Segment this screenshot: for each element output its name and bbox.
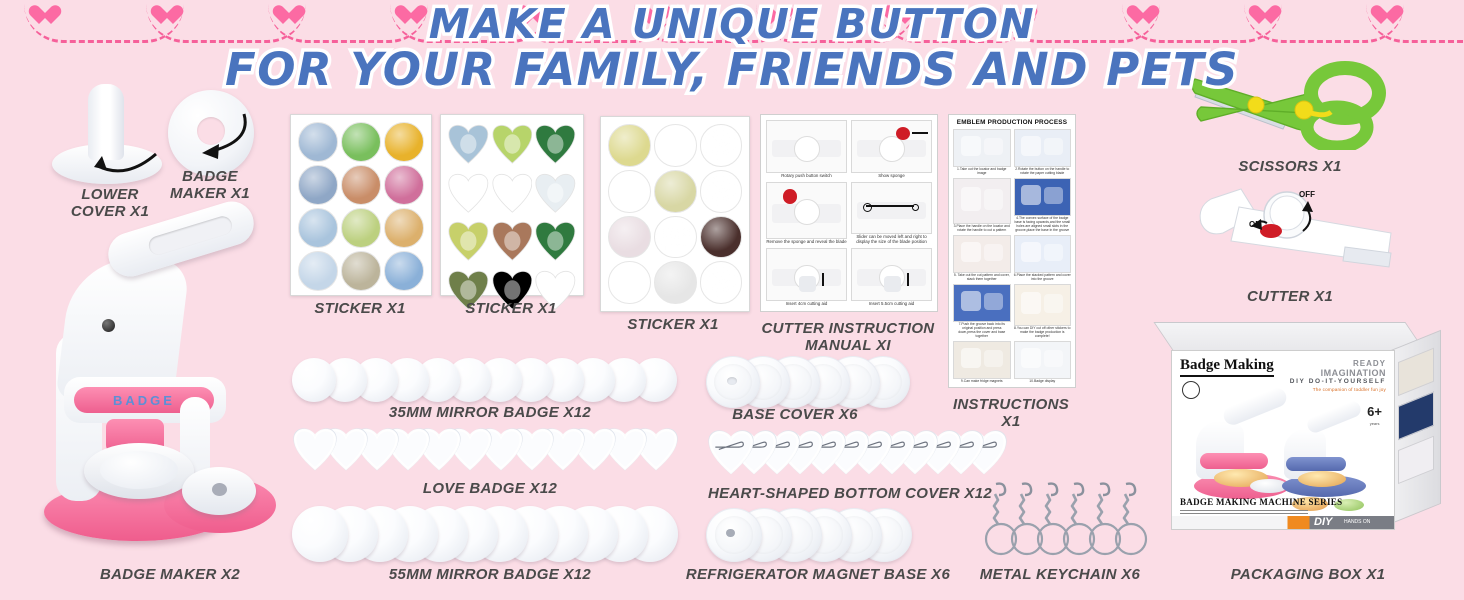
metal-keychain-item xyxy=(1114,482,1148,558)
instruction-step-art xyxy=(1014,284,1072,326)
sticker-item xyxy=(535,171,576,217)
step-thumb-a xyxy=(961,136,981,155)
base-cover-row xyxy=(706,356,896,408)
badge-maker-machine-image: BADGE xyxy=(40,215,290,555)
sticker-item xyxy=(608,124,651,167)
sticker-sheet-animals xyxy=(440,114,584,296)
sticker-item xyxy=(492,219,533,265)
box-brand: Badge Making xyxy=(1180,357,1274,377)
step-thumb-a xyxy=(1021,348,1041,367)
cutter-panel-art xyxy=(766,248,847,301)
instruction-step-caption: 4.The convex surface of the badge base i… xyxy=(1014,216,1072,232)
box-tagline-2: IMAGINATION xyxy=(1290,368,1386,378)
fridge-magnet-base-label: REFRIGERATOR MAGNET BASE X6 xyxy=(668,566,968,583)
sticker-item xyxy=(654,261,697,304)
sticker-item xyxy=(341,208,381,248)
machine-turntable-inner xyxy=(100,451,178,489)
box-tagline-1: READY xyxy=(1290,359,1386,368)
box-diy-text: DIY xyxy=(1314,516,1332,528)
heart-icon xyxy=(888,6,910,26)
heart-icon xyxy=(644,6,666,26)
step-thumb-b xyxy=(1044,294,1063,313)
cutter-panel-art xyxy=(766,182,847,240)
metal-keychain-label: METAL KEYCHAIN X6 xyxy=(960,566,1160,583)
arrow-left-icon xyxy=(912,132,928,134)
sponge-icon xyxy=(783,189,797,203)
badge-maker-ring-label: BADGE MAKER X1 xyxy=(140,168,280,202)
packaging-box-image: Badge Making READY IMAGINATION DIY DO-IT… xyxy=(1167,322,1449,554)
mirror-badge-55-row xyxy=(292,506,692,564)
box-tagline-3: DIY DO-IT-YOURSELF xyxy=(1290,378,1386,385)
step-thumb-b xyxy=(1044,187,1063,204)
instructions-poster-title: EMBLEM PRODUCTION PROCESS xyxy=(949,115,1075,126)
instruction-step-art xyxy=(953,235,1011,273)
instruction-step: 9.Can make fridge magnets xyxy=(953,341,1011,383)
machine-screw xyxy=(102,319,115,332)
cutter-panel-art xyxy=(851,182,932,235)
cutter-panel: Rotary push button switch xyxy=(766,120,847,178)
sticker-grid xyxy=(298,122,424,288)
sticker-item xyxy=(448,219,489,265)
step-thumb-a xyxy=(1021,292,1041,314)
sticker-item xyxy=(298,165,338,205)
step-thumb-b xyxy=(984,350,1003,367)
fridge-magnet-base-row xyxy=(706,508,906,562)
sticker-item xyxy=(341,165,381,205)
sticker-item xyxy=(384,122,424,162)
instruction-step: 2.Rotate the button on the handle to rot… xyxy=(1014,129,1072,175)
heart-icon xyxy=(1010,6,1032,26)
instruction-step-caption: 1.Take out the locator and badge image xyxy=(953,167,1011,175)
sticker-item xyxy=(535,219,576,265)
sticker-item xyxy=(492,122,533,168)
cutter-panel: Insert 5.5cm cutting aid xyxy=(851,248,932,306)
sticker-item xyxy=(298,122,338,162)
sticker-item xyxy=(298,208,338,248)
box-series-text: BADGE MAKING MACHINE SERIES xyxy=(1180,497,1342,507)
sticker-sheet-cartoon xyxy=(600,116,750,312)
down-arrow-icon xyxy=(907,273,909,286)
top-decoration-band xyxy=(0,0,1464,46)
sticker-item xyxy=(492,171,533,217)
cutter-manual-label: CUTTER INSTRUCTION MANUAL XI xyxy=(755,320,941,354)
base-cover-item xyxy=(706,356,760,408)
step-thumb-b xyxy=(1044,350,1063,367)
step-thumb-b xyxy=(1044,138,1063,155)
heart-icon xyxy=(400,6,422,26)
cover-hub xyxy=(727,377,737,385)
instruction-step-caption: 3.Place the handle on the locator and ro… xyxy=(953,224,1011,232)
instructions-poster-image: EMBLEM PRODUCTION PROCESS 1.Take out the… xyxy=(948,114,1076,388)
step-thumb-a xyxy=(1021,185,1041,204)
sticker-item xyxy=(700,261,743,304)
cutter-image: OFF ON xyxy=(1195,185,1400,285)
mirror-badge-55-label: 55MM MIRROR BADGE X12 xyxy=(330,566,650,583)
cutter-panel-grid: Rotary push button switchShow spongeRemo… xyxy=(766,120,932,306)
instruction-step-caption: 9.Can make fridge magnets xyxy=(953,379,1011,383)
sponge-icon xyxy=(896,127,910,140)
instruction-step: 4.The convex surface of the badge base i… xyxy=(1014,178,1072,232)
box-tagline-4: The companion of toddler fun joy xyxy=(1290,387,1386,392)
cutter-panel-caption: Rotary push button switch xyxy=(766,173,847,178)
sticker-item xyxy=(341,251,381,291)
infographic-canvas: Make a unique button for your family, fr… xyxy=(0,0,1464,600)
love-badge-row xyxy=(292,428,692,474)
sticker-grid xyxy=(608,124,742,304)
sticker-item xyxy=(608,216,651,259)
box-fineprint xyxy=(1180,510,1308,515)
safety-pin-icon xyxy=(713,440,748,452)
step-thumb-b xyxy=(984,293,1003,310)
machine-die-hole xyxy=(212,483,227,496)
instruction-step-caption: 6.Place the stacked pattern and cover in… xyxy=(1014,273,1072,281)
cutter-panel-art xyxy=(766,120,847,173)
box-side-thumb-2 xyxy=(1398,392,1434,441)
cutter-panel-art xyxy=(851,248,932,301)
cutter-panel: Insert 4cm cutting aid xyxy=(766,248,847,306)
badge-maker-machine-label: BADGE MAKER X2 xyxy=(55,566,285,583)
down-arrow-icon xyxy=(822,273,824,286)
heart-icon xyxy=(1376,6,1398,26)
heart-icon xyxy=(522,6,544,26)
instruction-step-caption: 10.Badge display xyxy=(1014,379,1072,383)
love-badge-label: LOVE BADGE X12 xyxy=(340,480,640,497)
heart-bottom-cover-item xyxy=(706,430,756,476)
instruction-step: 3.Place the handle on the locator and ro… xyxy=(953,178,1011,232)
step-thumb-b xyxy=(1044,244,1063,261)
dial-icon xyxy=(879,136,905,162)
instruction-step-caption: 2.Rotate the button on the handle to rot… xyxy=(1014,167,1072,175)
slider-right-icon xyxy=(912,204,919,211)
sticker-grid xyxy=(448,122,576,288)
instruction-step: 5. Take out the cut pattern and cover, s… xyxy=(953,235,1011,281)
heart-icon xyxy=(34,6,56,26)
sticker-2-label: STICKER X1 xyxy=(440,300,582,317)
cutting-aid-icon xyxy=(884,276,901,292)
box-front-face: Badge Making READY IMAGINATION DIY DO-IT… xyxy=(1171,350,1395,530)
instruction-step-caption: 5. Take out the cut pattern and cover, s… xyxy=(953,273,1011,281)
heart-icon xyxy=(278,6,300,26)
machine-handle-slot xyxy=(147,214,235,257)
box-side-thumb-3 xyxy=(1398,436,1434,485)
packaging-box-label: PACKAGING BOX X1 xyxy=(1180,566,1436,583)
instruction-step: 7.Push the groove back into its original… xyxy=(953,284,1011,338)
instruction-step: 1.Take out the locator and badge image xyxy=(953,129,1011,175)
box-diy-sub: HANDS ON xyxy=(1344,519,1370,525)
cutter-panel: Slider can be moved left and right to di… xyxy=(851,182,932,245)
heart-icon xyxy=(1132,6,1154,26)
machine-badge-text: BADGE xyxy=(113,393,175,408)
cutter-panel-art xyxy=(851,120,932,173)
instruction-step: 10.Badge display xyxy=(1014,341,1072,383)
rotate-arrow-icon xyxy=(186,106,256,168)
instruction-step-art xyxy=(953,341,1011,379)
cutter-instruction-manual-image: Rotary push button switchShow spongeRemo… xyxy=(760,114,938,312)
sticker-item xyxy=(700,216,743,259)
step-thumb-a xyxy=(961,348,981,367)
step-thumb-a xyxy=(961,187,981,211)
cutter-panel-caption: Insert 4cm cutting aid xyxy=(766,301,847,306)
sticker-item xyxy=(298,251,338,291)
instructions-label: INSTRUCTIONS X1 xyxy=(945,396,1077,430)
sticker-item xyxy=(654,216,697,259)
sticker-item xyxy=(700,170,743,213)
mirror-badge-35-label: 35MM MIRROR BADGE X12 xyxy=(330,404,650,421)
dial-icon xyxy=(794,136,820,162)
sticker-item xyxy=(608,170,651,213)
box-art-machine-blue xyxy=(1276,409,1372,505)
instruction-step-art xyxy=(1014,129,1072,167)
cutter-panel-caption: Slider can be moved left and right to di… xyxy=(851,234,932,244)
step-thumb-b xyxy=(984,244,1003,261)
sticker-3-label: STICKER X1 xyxy=(598,316,748,333)
heart-bottom-cover-row xyxy=(706,430,994,478)
sticker-item xyxy=(384,165,424,205)
cutter-panel-caption: Insert 5.5cm cutting aid xyxy=(851,301,932,306)
love-badge-item xyxy=(292,428,338,472)
instruction-step-art xyxy=(1014,235,1072,273)
step-thumb-a xyxy=(961,242,981,261)
mirror-badge-35-row xyxy=(292,358,692,404)
instruction-step: 8.You can DIY cut off other stickers to … xyxy=(1014,284,1072,338)
heart-icon xyxy=(766,6,788,26)
instruction-step-art xyxy=(953,284,1011,322)
mirror-badge-55-item xyxy=(292,506,348,562)
box-side-thumb-1 xyxy=(1398,348,1434,397)
box-side-face xyxy=(1391,330,1441,524)
sticker-item xyxy=(448,122,489,168)
instruction-step-art xyxy=(1014,341,1072,379)
sticker-item xyxy=(654,124,697,167)
cutter-off-text: OFF xyxy=(1299,190,1315,199)
scissors-label: SCISSORS X1 xyxy=(1200,158,1380,175)
scissors-image xyxy=(1185,55,1390,150)
instruction-step-caption: 8.You can DIY cut off other stickers to … xyxy=(1014,326,1072,338)
sticker-item xyxy=(384,251,424,291)
cutter-panel: Remove the sponge and reveal the blade xyxy=(766,182,847,245)
heart-icon xyxy=(1254,6,1276,26)
dial-icon xyxy=(794,199,820,225)
cutter-panel: Show sponge xyxy=(851,120,932,178)
step-thumb-a xyxy=(961,291,981,310)
cutting-aid-icon xyxy=(799,276,816,292)
cutter-label: CUTTER X1 xyxy=(1215,288,1365,305)
sticker-item xyxy=(700,124,743,167)
instruction-step: 6.Place the stacked pattern and cover in… xyxy=(1014,235,1072,281)
fridge-magnet-base-item xyxy=(706,508,762,562)
heart-icon xyxy=(156,6,178,26)
sticker-item xyxy=(608,261,651,304)
machine-side-die xyxy=(182,467,256,515)
instruction-step-art xyxy=(1014,178,1072,216)
magnet-hub xyxy=(726,529,735,537)
step-thumb-b xyxy=(984,138,1003,155)
step-thumb-b xyxy=(984,189,1003,210)
base-cover-label: BASE COVER X6 xyxy=(700,406,890,423)
sticker-1-label: STICKER X1 xyxy=(290,300,430,317)
sticker-item xyxy=(535,122,576,168)
mirror-badge-35-item xyxy=(292,358,336,402)
step-thumb-a xyxy=(1021,136,1041,155)
instruction-step-art xyxy=(953,129,1011,167)
sticker-item xyxy=(448,171,489,217)
sticker-sheet-landmarks xyxy=(290,114,432,296)
cutter-panel-caption: Remove the sponge and reveal the blade xyxy=(766,239,847,244)
sticker-item xyxy=(384,208,424,248)
slider-arrow-icon xyxy=(866,205,913,207)
step-thumb-a xyxy=(1021,242,1041,261)
sticker-item xyxy=(654,170,697,213)
badge-maker-ring-image xyxy=(168,90,254,176)
sticker-item xyxy=(341,122,381,162)
box-bottom-bar: DIY HANDS ON xyxy=(1172,516,1394,529)
heart-bottom-cover-label: HEART-SHAPED BOTTOM COVER X12 xyxy=(700,485,1000,502)
metal-keychain-row xyxy=(984,482,1144,558)
instruction-step-caption: 7.Push the groove back into its original… xyxy=(953,322,1011,338)
instruction-step-art xyxy=(953,178,1011,224)
cutter-panel-caption: Show sponge xyxy=(851,173,932,178)
